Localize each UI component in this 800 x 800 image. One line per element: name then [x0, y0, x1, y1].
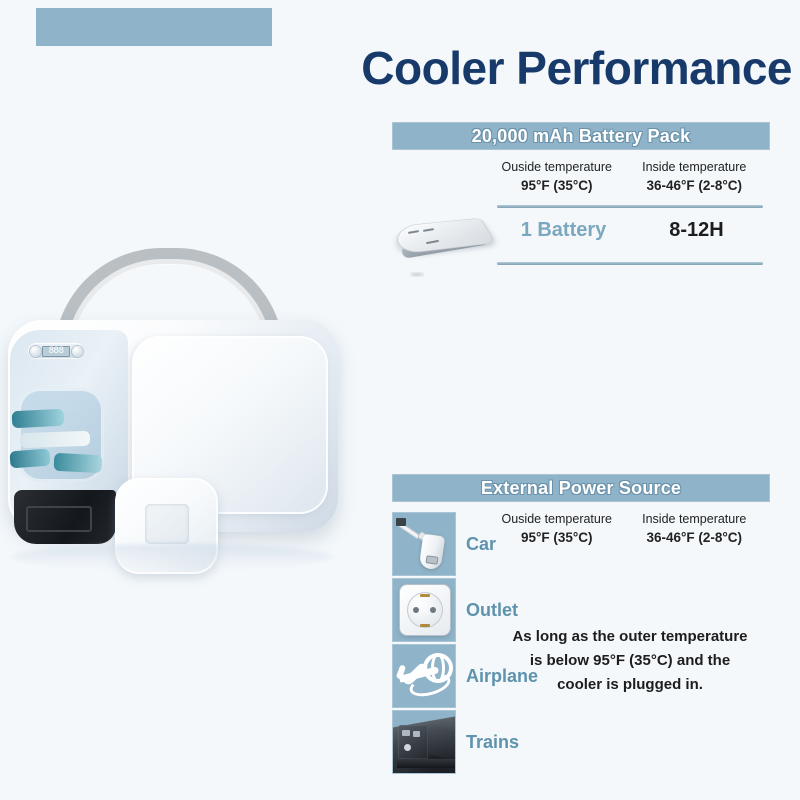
- power-temperature-header: Ouside temperature 95°F (35°C) Inside te…: [488, 511, 763, 547]
- product-cooler-image: 888: [2, 248, 347, 578]
- power-outside-temperature-column: Ouside temperature 95°F (35°C): [488, 511, 626, 547]
- outlet-ground-clip: [420, 624, 430, 627]
- train-window: [413, 731, 420, 737]
- battery-inside-temperature-value: 36-46°F (2-8°C): [626, 176, 764, 195]
- train-icon: [392, 710, 456, 774]
- decorative-top-left-block: [36, 8, 272, 46]
- car-adapter-usb-socket: [426, 555, 439, 565]
- battery-outside-temperature-label: Ouside temperature: [488, 159, 626, 176]
- outlet-pin-hole: [413, 607, 419, 613]
- power-source-item-car: Car: [392, 512, 496, 576]
- power-section-header-label: External Power Source: [481, 478, 681, 499]
- battery-table-divider-top: [497, 205, 763, 208]
- battery-outside-temperature-value: 95°F (35°C): [488, 176, 626, 195]
- power-source-note: As long as the outer temperature is belo…: [495, 625, 765, 697]
- power-source-label-trains: Trains: [466, 732, 519, 753]
- battery-count-value: 1 Battery: [497, 219, 630, 242]
- power-source-label-car: Car: [466, 534, 496, 555]
- airplane-globe-icon: [392, 644, 456, 708]
- wall-outlet-icon: [392, 578, 456, 642]
- cooler-button-right: [72, 346, 83, 357]
- battery-section-header-label: 20,000 mAh Battery Pack: [472, 126, 691, 147]
- cooler-vial: [12, 409, 65, 429]
- car-charger-icon: [392, 512, 456, 576]
- power-source-note-line-2: is below 95°F (35°C) and the: [495, 649, 765, 673]
- battery-pack-shadow: [410, 272, 424, 277]
- cooler-vial: [20, 431, 90, 448]
- power-source-note-line-1: As long as the outer temperature: [495, 625, 765, 649]
- train-headlight: [404, 744, 411, 751]
- power-inside-temperature-column: Inside temperature 36-46°F (2-8°C): [626, 511, 764, 547]
- cooler-detached-lid-emboss: [145, 504, 189, 544]
- cooler-button-left: [30, 346, 41, 357]
- power-outside-temperature-label: Ouside temperature: [488, 511, 626, 528]
- car-adapter-body: [419, 534, 446, 571]
- battery-section-header: 20,000 mAh Battery Pack: [392, 122, 770, 150]
- page-title: Cooler Performance: [361, 44, 792, 92]
- car-usb-plug: [396, 518, 406, 526]
- cooler-base-slot: [26, 506, 92, 532]
- power-section-header: External Power Source: [392, 474, 770, 502]
- power-outside-temperature-value: 95°F (35°C): [488, 528, 626, 547]
- power-source-item-trains: Trains: [392, 710, 519, 774]
- power-source-label-outlet: Outlet: [466, 600, 518, 621]
- train-window: [402, 730, 410, 736]
- battery-temperature-header: Ouside temperature 95°F (35°C) Inside te…: [488, 159, 763, 195]
- battery-table-divider-bottom: [497, 262, 763, 265]
- battery-result-row: 1 Battery 8-12H: [497, 219, 763, 242]
- battery-outside-temperature-column: Ouside temperature 95°F (35°C): [488, 159, 626, 195]
- train-wheels: [397, 759, 455, 768]
- battery-inside-temperature-column: Inside temperature 36-46°F (2-8°C): [626, 159, 764, 195]
- cooler-lcd-readout: 888: [42, 346, 70, 357]
- outlet-pin-hole: [430, 607, 436, 613]
- outlet-ground-clip: [420, 594, 430, 597]
- cooler-vial: [9, 449, 50, 469]
- battery-inside-temperature-label: Inside temperature: [626, 159, 764, 176]
- cooler-reflection: [12, 544, 332, 570]
- cooler-vial: [54, 453, 103, 473]
- battery-pack-image: [392, 198, 502, 280]
- power-inside-temperature-label: Inside temperature: [626, 511, 764, 528]
- power-source-note-line-3: cooler is plugged in.: [495, 673, 765, 697]
- battery-duration-value: 8-12H: [630, 219, 763, 242]
- power-inside-temperature-value: 36-46°F (2-8°C): [626, 528, 764, 547]
